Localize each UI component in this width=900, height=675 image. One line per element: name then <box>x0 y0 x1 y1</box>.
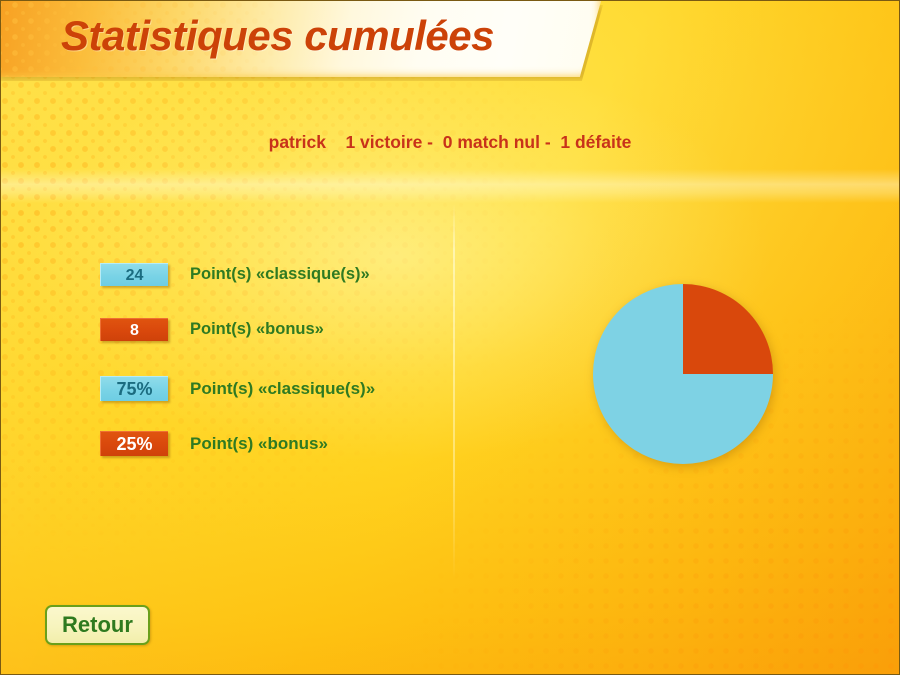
panel-divider <box>453 204 455 579</box>
legend-item-bonus-percent: 25% Point(s) «bonus» <box>100 431 328 456</box>
back-button[interactable]: Retour <box>45 605 150 645</box>
header-separator-band <box>1 169 899 203</box>
page-title: Statistiques cumulées <box>61 12 494 60</box>
legend-label-bonus-points: Point(s) «bonus» <box>190 320 324 339</box>
legend-value-bonus-percent: 25% <box>100 431 168 456</box>
legend-item-classic-percent: 75% Point(s) «classique(s)» <box>100 376 375 401</box>
legend-value-bonus-points: 8 <box>100 318 168 341</box>
pie-chart <box>593 284 773 464</box>
statistics-screen: Statistiques cumulées patrick 1 victoire… <box>0 0 900 675</box>
legend-label-bonus-percent: Point(s) «bonus» <box>190 434 328 454</box>
legend-label-classic-points: Point(s) «classique(s)» <box>190 265 370 284</box>
legend-label-classic-percent: Point(s) «classique(s)» <box>190 379 375 399</box>
legend-item-bonus-points: 8 Point(s) «bonus» <box>100 318 324 341</box>
match-summary: patrick 1 victoire - 0 match nul - 1 déf… <box>1 132 899 153</box>
legend-value-classic-percent: 75% <box>100 376 168 401</box>
header-banner: Statistiques cumulées <box>0 1 609 79</box>
legend-item-classic-points: 24 Point(s) «classique(s)» <box>100 263 370 286</box>
legend-value-classic-points: 24 <box>100 263 168 286</box>
